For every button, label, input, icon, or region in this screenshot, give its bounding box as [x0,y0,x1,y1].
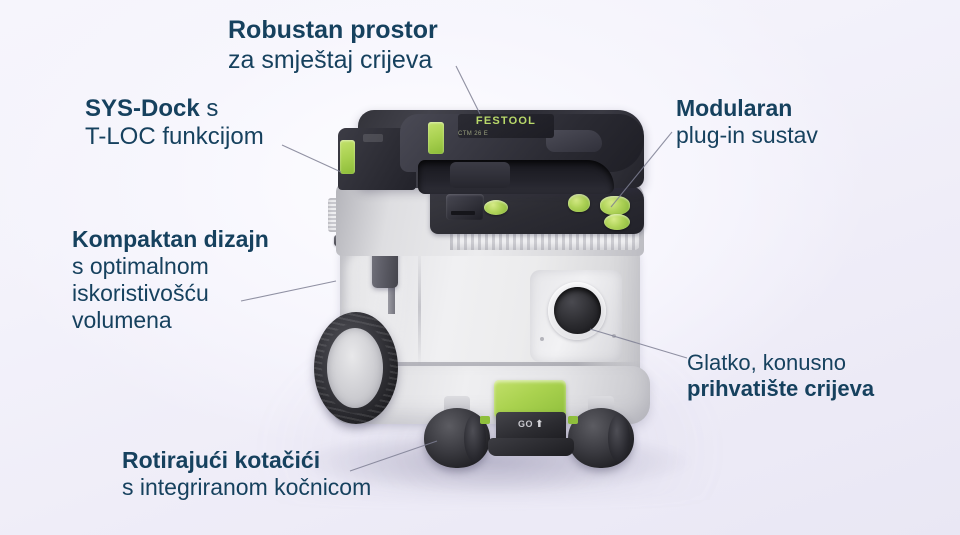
callout-sysdock-suffix: s [200,95,219,122]
callout-kompaktan-line2: s optimalnom [72,253,269,280]
callout-rotirajuci-bold: Rotirajući kotačići [122,447,371,474]
leader-line-modularan [611,132,672,207]
callout-rotirajuci-kotacici: Rotirajući kotačići s integriranom kočni… [122,447,371,501]
leader-line-glatko [590,329,687,358]
callout-robustan-prostor: Robustan prostor za smještaj crijeva [228,16,438,75]
callout-glatko-prihvatiste: Glatko, konusno prihvatište crijeva [687,350,874,402]
infographic-canvas: GO ⬆ FESTOOL CTM 26 E [0,0,960,535]
callout-modularan-regular: plug-in sustav [676,122,818,149]
callout-glatko-bold: prihvatište crijeva [687,376,874,402]
callout-kompaktan-line3: iskoristivošću [72,280,269,307]
callout-sysdock-line1: SYS-Dock s [85,95,264,123]
callout-robustan-bold: Robustan prostor [228,16,438,46]
callout-rotirajuci-regular: s integriranom kočnicom [122,474,371,501]
callout-kompaktan-line4: volumena [72,307,269,334]
callout-modularan: Modularan plug-in sustav [676,95,818,149]
callout-glatko-regular: Glatko, konusno [687,350,874,376]
callout-kompaktan-dizajn: Kompaktan dizajn s optimalnom iskoristiv… [72,226,269,335]
callout-modularan-bold: Modularan [676,95,818,122]
callout-sysdock-bold: SYS-Dock [85,95,200,122]
callout-sys-dock: SYS-Dock s T-LOC funkcijom [85,95,264,152]
callout-robustan-regular: za smještaj crijeva [228,46,438,76]
callout-sysdock-line2: T-LOC funkcijom [85,123,264,151]
leader-line-robustan [456,66,480,114]
leader-line-sysdock [282,145,341,172]
callout-kompaktan-bold: Kompaktan dizajn [72,226,269,253]
